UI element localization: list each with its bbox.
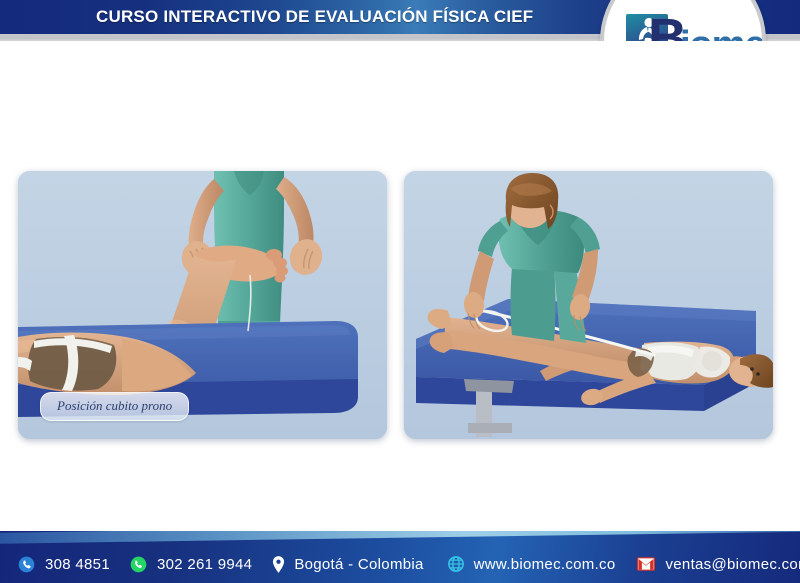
footer-phone[interactable]: 308 4851 (18, 556, 110, 573)
footer-location[interactable]: Bogotá - Colombia (272, 556, 423, 573)
panel-caption-left: Posición cubito prono (40, 392, 189, 421)
scene-supine-limb-length-measure (404, 171, 773, 439)
footer-email-text: ventas@biomec.com.co (665, 556, 800, 573)
footer-location-text: Bogotá - Colombia (294, 556, 423, 573)
email-icon (637, 557, 655, 571)
illustration-panel-right[interactable] (404, 171, 773, 439)
illustration-panel-left[interactable]: Posición cubito prono (18, 171, 387, 439)
page-title: CURSO INTERACTIVO DE EVALUACIÓN FÍSICA C… (96, 7, 533, 27)
footer-contact-row: 308 4851 302 261 9944 Bogotá - Colombia (0, 545, 800, 583)
footer-website[interactable]: www.biomec.com.co (448, 556, 616, 573)
footer-phone-text: 308 4851 (45, 556, 110, 573)
whatsapp-icon (130, 556, 147, 573)
footer-email[interactable]: ventas@biomec.com.co (637, 556, 800, 573)
footer-accent-stripe (0, 531, 800, 544)
footer-bar: 308 4851 302 261 9944 Bogotá - Colombia (0, 531, 800, 583)
globe-icon (448, 556, 464, 572)
phone-icon (18, 556, 35, 573)
footer-whatsapp[interactable]: 302 261 9944 (130, 556, 252, 573)
footer-website-text: www.biomec.com.co (474, 556, 616, 573)
location-pin-icon (272, 556, 285, 573)
content-area: Posición cubito prono (0, 41, 800, 531)
footer-whatsapp-text: 302 261 9944 (157, 556, 252, 573)
illustration-limb-length-svg (404, 171, 773, 439)
